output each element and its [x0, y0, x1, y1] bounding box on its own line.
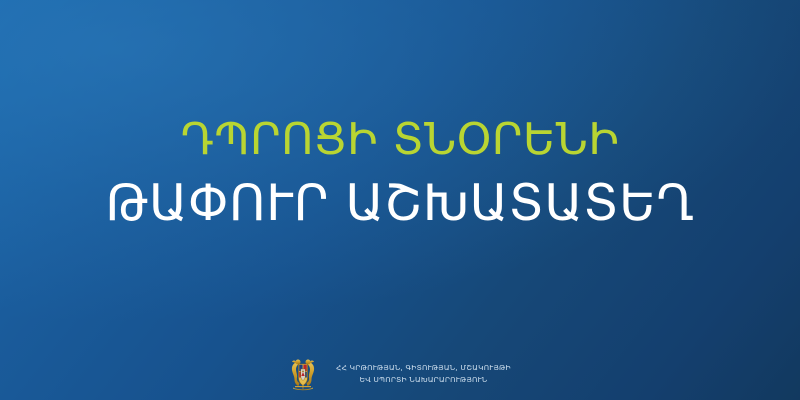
ministry-name-line-1: ՀՀ ԿՐԹՈՒԹՅԱՆ, ԳԻՏՈՒԹՅԱՆ, ՄՇԱԿՈՒՅԹԻ: [336, 362, 511, 374]
armenian-coat-of-arms-icon: [289, 357, 317, 391]
ministry-name-line-2: ԵՎ ՍՊՈՐՏԻ ՆԱԽԱՐԱՐՈՒԹՅՈՒՆ: [336, 374, 511, 386]
headline-line-secondary: ԹԱՓՈՒՐ ԱՇԽԱՏԱՏԵՂ: [0, 178, 800, 228]
headline-block: ԴՊՐՈՑԻ ՏՆՕՐԵՆԻ ԹԱՓՈՒՐ ԱՇԽԱՏԱՏԵՂ: [0, 118, 800, 228]
announcement-banner: ԴՊՐՈՑԻ ՏՆՕՐԵՆԻ ԹԱՓՈՒՐ ԱՇԽԱՏԱՏԵՂ: [0, 0, 800, 400]
headline-line-primary: ԴՊՐՈՑԻ ՏՆՕՐԵՆԻ: [0, 118, 800, 162]
ministry-footer: ՀՀ ԿՐԹՈՒԹՅԱՆ, ԳԻՏՈՒԹՅԱՆ, ՄՇԱԿՈՒՅԹԻ ԵՎ ՍՊ…: [0, 357, 800, 391]
ministry-name: ՀՀ ԿՐԹՈՒԹՅԱՆ, ԳԻՏՈՒԹՅԱՆ, ՄՇԱԿՈՒՅԹԻ ԵՎ ՍՊ…: [336, 362, 511, 386]
